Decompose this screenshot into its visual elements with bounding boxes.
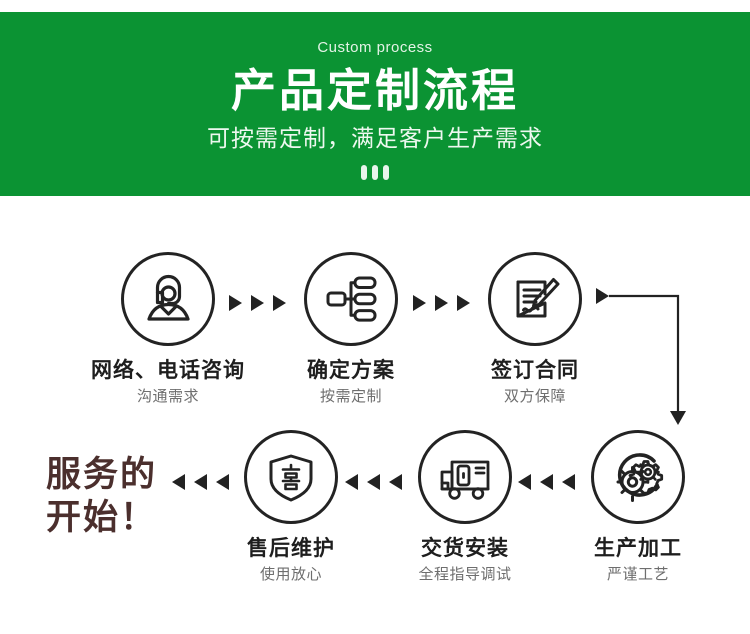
triangle-left-icon [172, 474, 185, 490]
step-6-title: 售后维护 [206, 537, 376, 560]
step-2-title: 确定方案 [266, 359, 436, 382]
process-step-6[interactable]: 售后维护 使用放心 [206, 430, 376, 584]
process-step-4[interactable]: 生产加工 严谨工艺 [553, 430, 723, 584]
gears-icon [608, 447, 668, 507]
step-6-desc: 使用放心 [206, 567, 376, 584]
service-start-heading: 服务的 开始！ [46, 454, 157, 539]
step-3-icon-circle [488, 252, 582, 346]
triangle-right-icon [596, 288, 609, 304]
process-step-3[interactable]: 签订合同 双方保障 [450, 252, 620, 406]
triangle-left-icon [389, 474, 402, 490]
triangle-right-icon [413, 295, 426, 311]
sitemap-icon [322, 270, 380, 328]
process-flow: 网络、电话咨询 沟通需求 确定方 [0, 196, 750, 634]
step-3-desc: 双方保障 [450, 389, 620, 406]
banner-subtitle: 可按需定制，满足客户生产需求 [0, 116, 750, 151]
step-4-icon-circle [591, 430, 685, 524]
step-1-icon-circle [121, 252, 215, 346]
step-5-title: 交货安装 [380, 537, 550, 560]
triangle-left-icon [194, 474, 207, 490]
triangle-right-icon [251, 295, 264, 311]
process-step-2[interactable]: 确定方案 按需定制 [266, 252, 436, 406]
elbow-connector-row1-row2 [596, 280, 692, 433]
step-6-icon-circle [244, 430, 338, 524]
step-2-desc: 按需定制 [266, 389, 436, 406]
step-5-desc: 全程指导调试 [380, 567, 550, 584]
step-3-title: 签订合同 [450, 359, 620, 382]
step-1-title: 网络、电话咨询 [83, 359, 253, 382]
contract-pen-icon [506, 270, 564, 328]
dash-mark [361, 165, 367, 180]
triangle-right-icon [229, 295, 242, 311]
dash-mark [383, 165, 389, 180]
product-custom-process-page: Custom process 产品定制流程 可按需定制，满足客户生产需求 [0, 0, 750, 634]
triangle-down-icon [670, 411, 686, 425]
page-title: 产品定制流程 [0, 55, 750, 116]
banner-dash-decoration [0, 151, 750, 180]
service-start-line-2: 开始！ [46, 497, 157, 540]
step-4-title: 生产加工 [553, 537, 723, 560]
banner-eyebrow: Custom process [0, 12, 750, 55]
triangle-right-icon [435, 295, 448, 311]
arrow-group-step6-hero [172, 474, 229, 490]
process-step-5[interactable]: 交货安装 全程指导调试 [380, 430, 550, 584]
step-2-icon-circle [304, 252, 398, 346]
shield-service-icon [262, 448, 320, 506]
service-start-line-1: 服务的 [46, 454, 157, 497]
step-5-icon-circle [418, 430, 512, 524]
step-1-desc: 沟通需求 [83, 389, 253, 406]
headset-person-icon [139, 270, 197, 328]
step-4-desc: 严谨工艺 [553, 567, 723, 584]
page-banner: Custom process 产品定制流程 可按需定制，满足客户生产需求 [0, 12, 750, 196]
triangle-left-icon [216, 474, 229, 490]
dash-mark [372, 165, 378, 180]
process-step-1[interactable]: 网络、电话咨询 沟通需求 [83, 252, 253, 406]
delivery-truck-icon [436, 448, 494, 506]
triangle-left-icon [562, 474, 575, 490]
